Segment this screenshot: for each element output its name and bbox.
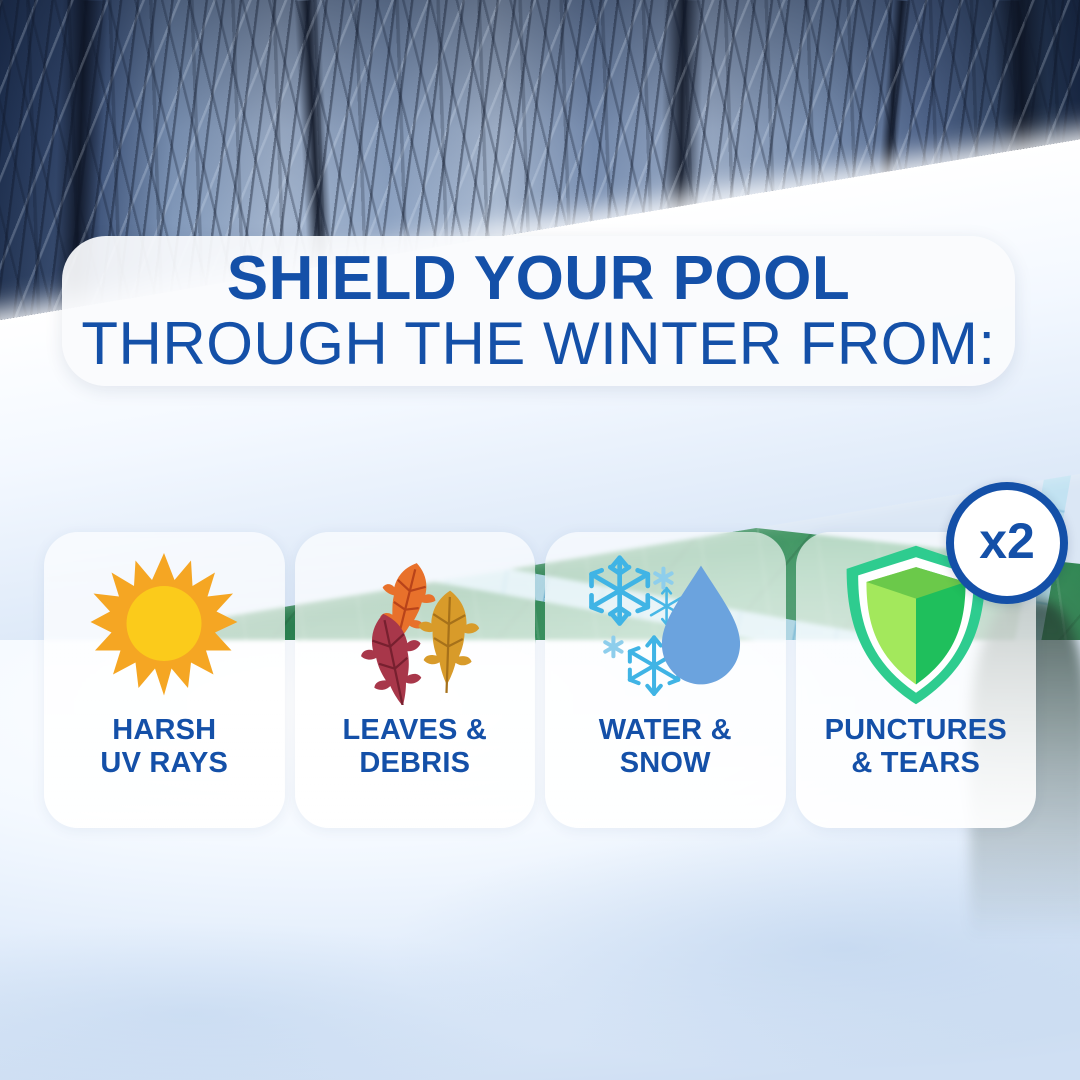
label-line-2: DEBRIS (359, 747, 470, 779)
snow-water-icon (579, 532, 751, 718)
sun-icon (89, 532, 239, 718)
feature-card-label: HARSH UV RAYS (100, 714, 228, 780)
feature-card-label: PUNCTURES & TEARS (825, 714, 1007, 780)
label-line-1: HARSH (112, 714, 216, 746)
feature-card-label: LEAVES & DEBRIS (343, 714, 487, 780)
feature-card-uv-rays[interactable]: HARSH UV RAYS (44, 532, 285, 828)
feature-card-row: HARSH UV RAYS (44, 532, 1036, 828)
label-line-2: SNOW (620, 747, 711, 779)
feature-card-label: WATER & SNOW (599, 714, 732, 780)
headline-line-2: THROUGH THE WINTER FROM: (81, 312, 995, 375)
leaves-icon (335, 532, 495, 718)
feature-card-water-snow[interactable]: WATER & SNOW (545, 532, 786, 828)
promo-graphic: SHIELD YOUR POOL THROUGH THE WINTER FROM… (0, 0, 1080, 1080)
quantity-badge-label: x2 (979, 516, 1035, 566)
label-line-1: PUNCTURES (825, 714, 1007, 746)
quantity-badge: x2 (946, 482, 1068, 604)
label-line-1: WATER & (599, 714, 732, 746)
headline-banner: SHIELD YOUR POOL THROUGH THE WINTER FROM… (62, 236, 1015, 386)
label-line-2: UV RAYS (100, 747, 228, 779)
feature-card-leaves-debris[interactable]: LEAVES & DEBRIS (295, 532, 536, 828)
label-line-2: & TEARS (851, 747, 980, 779)
label-line-1: LEAVES & (343, 714, 487, 746)
headline-line-1: SHIELD YOUR POOL (227, 247, 851, 310)
